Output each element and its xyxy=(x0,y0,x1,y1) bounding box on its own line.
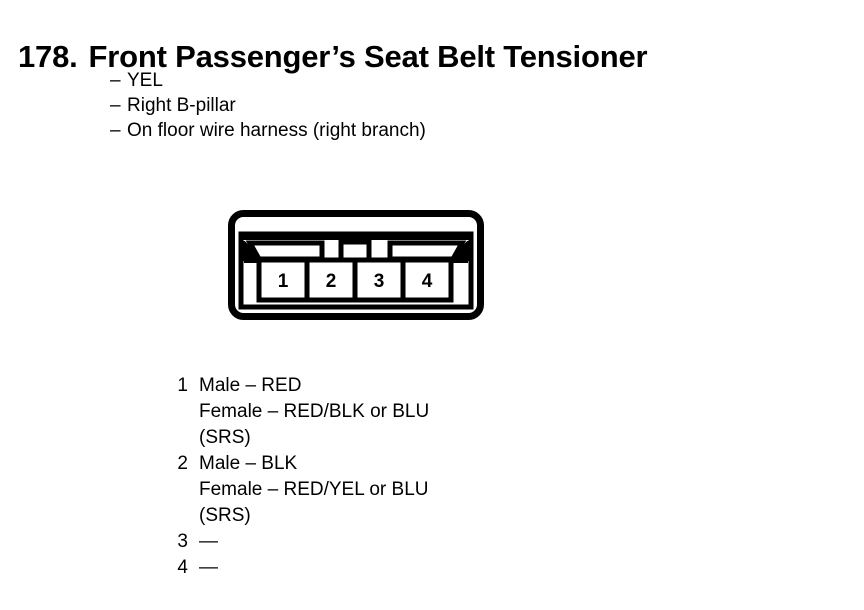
attribute-label: YEL xyxy=(127,68,163,93)
attribute-list: – YEL – Right B-pillar – On floor wire h… xyxy=(110,68,426,143)
connector-pin-label-4: 4 xyxy=(422,271,433,292)
pin-legend-index: 1 xyxy=(163,373,199,399)
attribute-item-0: – YEL xyxy=(110,68,426,93)
pin-legend-entry-2: 2 Male – BLK Female – RED/YEL or BLU (SR… xyxy=(163,451,429,529)
page-title-number: 178. xyxy=(18,40,78,74)
pin-legend: 1 Male – RED Female – RED/BLK or BLU (SR… xyxy=(163,373,429,581)
pin-legend-line: (SRS) xyxy=(199,425,429,451)
pin-legend-description: — xyxy=(199,529,218,555)
connector-slot-center xyxy=(341,242,369,260)
attribute-label: Right B-pillar xyxy=(127,93,236,118)
bullet-dash-icon: – xyxy=(110,93,127,118)
pin-legend-index: 3 xyxy=(163,529,199,555)
pin-legend-line: (SRS) xyxy=(199,503,429,529)
bullet-dash-icon: – xyxy=(110,118,127,143)
connector-pin-label-3: 3 xyxy=(374,271,385,292)
pin-legend-index: 4 xyxy=(163,555,199,581)
pin-legend-description: Male – BLK Female – RED/YEL or BLU (SRS) xyxy=(199,451,429,529)
pin-legend-line: Female – RED/BLK or BLU xyxy=(199,399,429,425)
pin-legend-description: Male – RED Female – RED/BLK or BLU (SRS) xyxy=(199,373,429,451)
connector-slot-right xyxy=(390,243,462,259)
bullet-dash-icon: – xyxy=(110,68,127,93)
pin-legend-line: Male – RED xyxy=(199,373,429,399)
pin-legend-entry-4: 4 — xyxy=(163,555,429,581)
attribute-item-2: – On floor wire harness (right branch) xyxy=(110,118,426,143)
pin-legend-entry-1: 1 Male – RED Female – RED/BLK or BLU (SR… xyxy=(163,373,429,451)
pin-legend-line: Male – BLK xyxy=(199,451,429,477)
attribute-label: On floor wire harness (right branch) xyxy=(127,118,426,143)
pin-legend-line: — xyxy=(199,529,218,555)
pin-legend-line: Female – RED/YEL or BLU xyxy=(199,477,429,503)
pin-legend-entry-3: 3 — xyxy=(163,529,429,555)
connector-slot-left xyxy=(250,243,322,259)
connector-pin-label-1: 1 xyxy=(278,271,289,292)
pin-legend-index: 2 xyxy=(163,451,199,477)
connector-diagram: 1 2 3 4 xyxy=(228,210,484,320)
attribute-item-1: – Right B-pillar xyxy=(110,93,426,118)
pin-legend-description: — xyxy=(199,555,218,581)
connector-pin-label-2: 2 xyxy=(326,271,337,292)
pin-legend-line: — xyxy=(199,555,218,581)
